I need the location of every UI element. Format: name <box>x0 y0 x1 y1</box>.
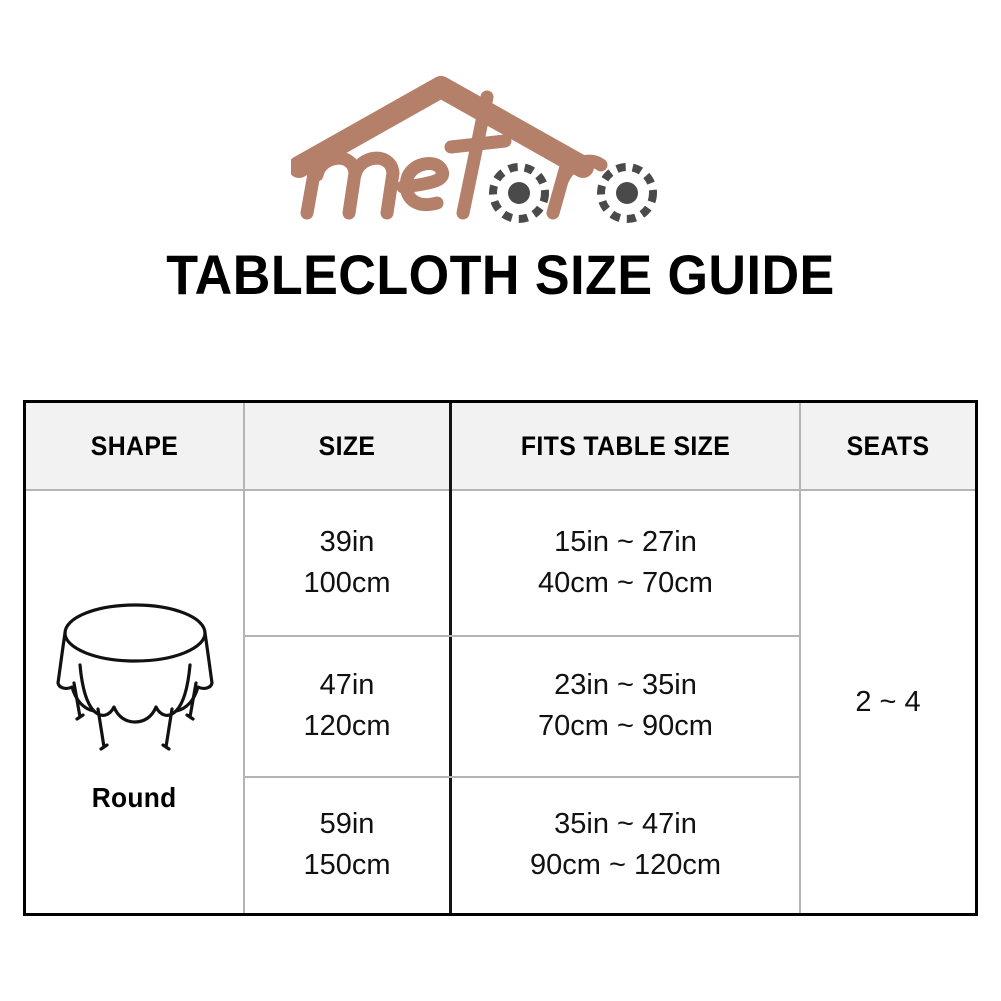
size-centimeters: 100cm <box>303 563 390 604</box>
size-cell-row-2: 47in 120cm <box>245 635 449 776</box>
size-inches: 47in <box>320 665 375 706</box>
size-centimeters: 120cm <box>303 706 390 747</box>
column-header-shape: SHAPE <box>35 403 235 489</box>
page-title: TABLECLOTH SIZE GUIDE <box>35 243 966 307</box>
size-cell-row-3: 59in 150cm <box>245 776 449 913</box>
size-inches: 59in <box>320 804 375 845</box>
wheel-o-icon-2 <box>601 167 653 219</box>
wheel-o-icon-1 <box>493 167 545 219</box>
tablecloth-size-table: SHAPE SIZE FITS TABLE SIZE SEATS <box>23 400 978 916</box>
round-table-icon <box>50 591 220 756</box>
brand-logo <box>0 70 1001 230</box>
fits-inches: 15in ~ 27in <box>554 522 697 563</box>
size-cell-row-1: 39in 100cm <box>245 491 449 635</box>
fits-cell-row-3: 35in ~ 47in 90cm ~ 120cm <box>452 776 799 913</box>
fits-inches: 23in ~ 35in <box>554 665 697 706</box>
size-inches: 39in <box>320 522 375 563</box>
shape-label: Round <box>92 782 177 814</box>
fits-cell-row-1: 15in ~ 27in 40cm ~ 70cm <box>452 491 799 635</box>
column-header-size: SIZE <box>253 403 441 489</box>
fits-centimeters: 40cm ~ 70cm <box>538 563 713 604</box>
column-header-fits-table-size: FITS TABLE SIZE <box>466 403 785 489</box>
fits-inches: 35in ~ 47in <box>554 804 697 845</box>
fits-cell-row-2: 23in ~ 35in 70cm ~ 90cm <box>452 635 799 776</box>
size-centimeters: 150cm <box>303 845 390 886</box>
seats-cell: 2 ~ 4 <box>801 491 975 913</box>
metoro-logo-svg <box>291 75 711 225</box>
fits-centimeters: 90cm ~ 120cm <box>530 845 721 886</box>
fits-centimeters: 70cm ~ 90cm <box>538 706 713 747</box>
column-header-seats: SEATS <box>808 403 968 489</box>
shape-cell: Round <box>26 491 243 913</box>
